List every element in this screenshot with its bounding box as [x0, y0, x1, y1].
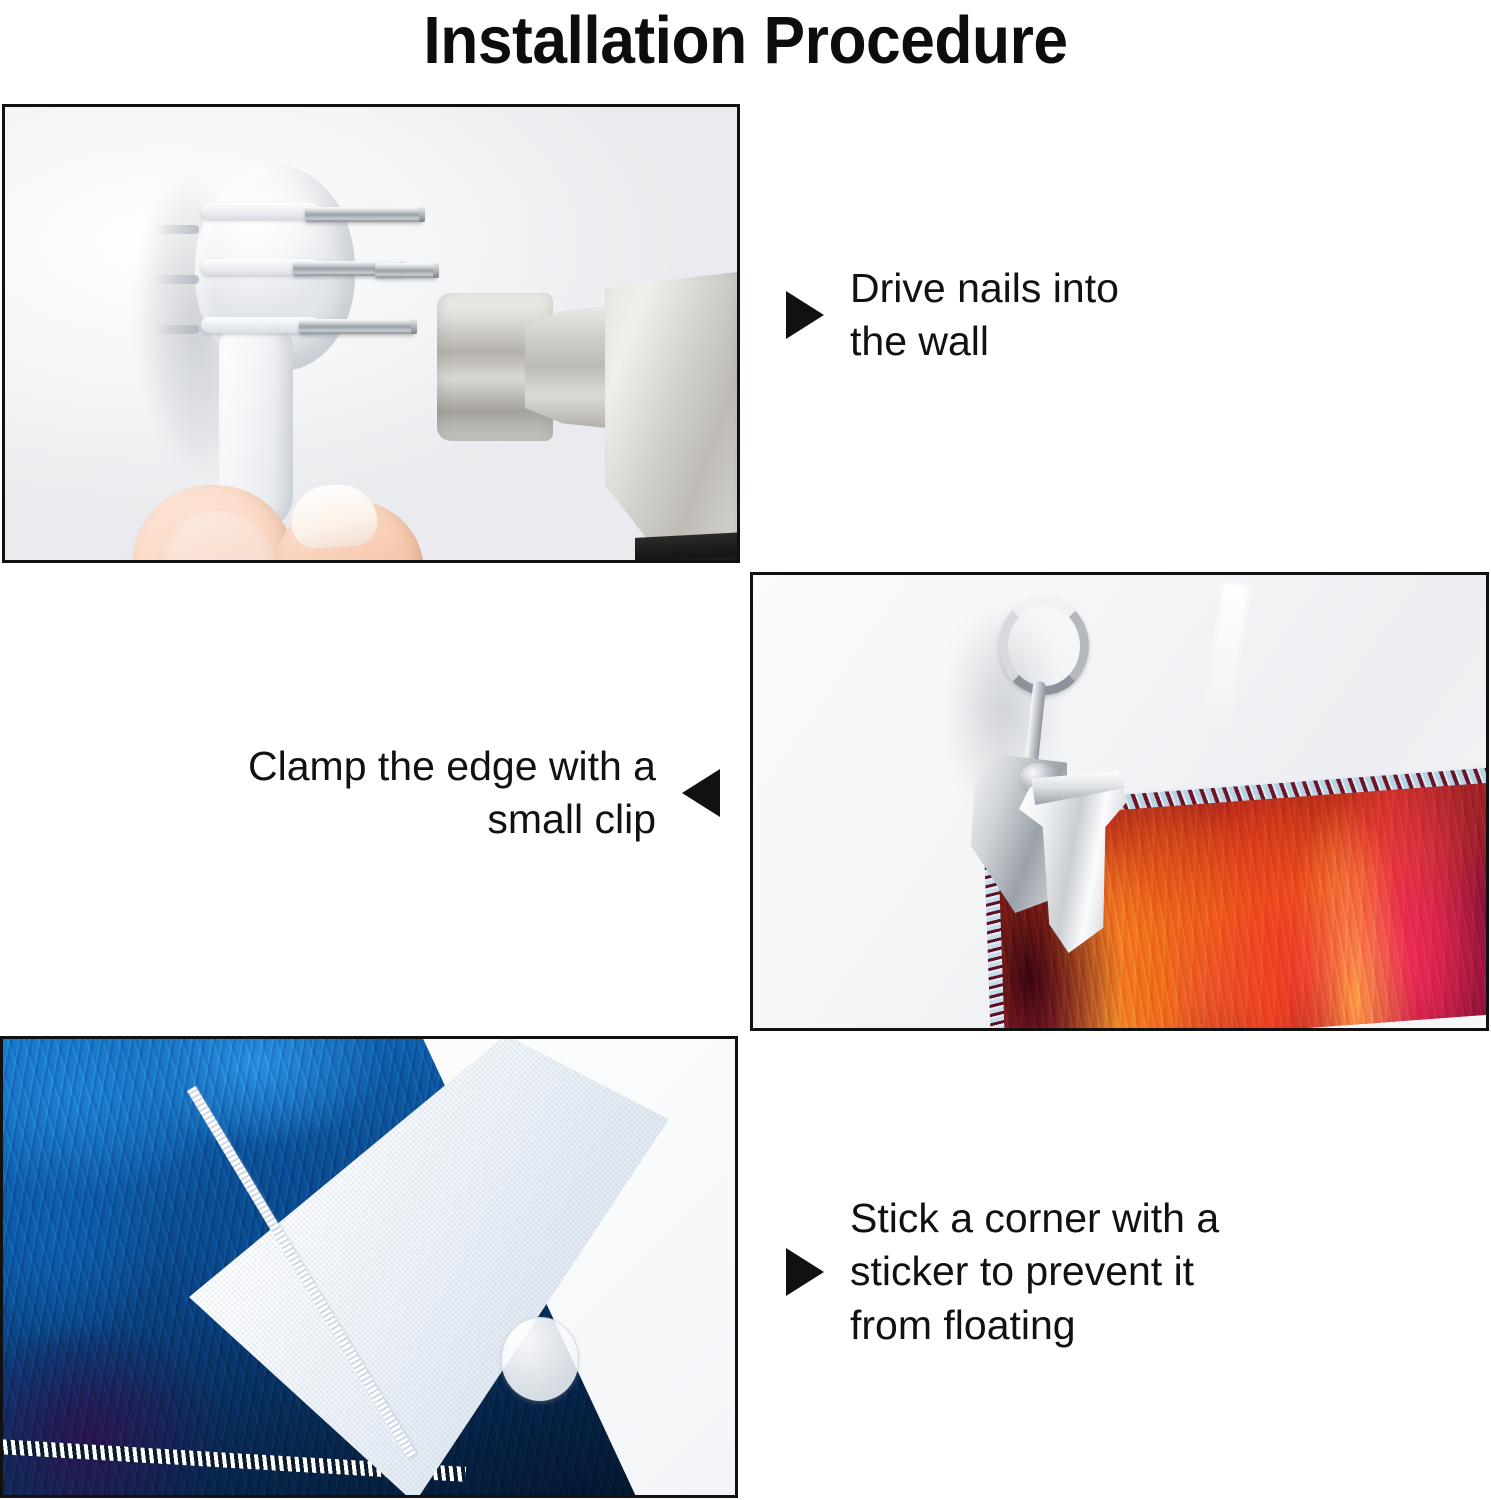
metal-nail: [299, 319, 415, 334]
photo-sticker-corner-inner: [3, 1039, 735, 1495]
hook-rib: [155, 325, 199, 334]
caption-drive-nails: Drive nails into the wall: [786, 262, 1426, 369]
caption-stick-corner: Stick a corner with a sticker to prevent…: [786, 1192, 1446, 1352]
photo-sticker-corner: [0, 1036, 738, 1498]
photo-hammer-nail-hook: [2, 104, 740, 563]
hook-nail-ridge: [201, 203, 319, 219]
metal-nail: [305, 207, 423, 222]
hook-rib: [155, 275, 199, 284]
photo-clip-holding-tapestry: [750, 572, 1489, 1031]
installation-procedure-page: Installation Procedure: [0, 0, 1491, 1500]
metal-ring: [999, 597, 1089, 695]
metal-nail: [375, 263, 437, 278]
triangle-left-icon: [682, 769, 720, 817]
page-title: Installation Procedure: [52, 2, 1439, 79]
triangle-right-icon: [786, 291, 824, 339]
caption-text: Clamp the edge with a small clip: [248, 740, 656, 847]
photo-hammer-nail-hook-inner: [5, 107, 737, 560]
round-clear-sticker: [501, 1317, 579, 1401]
caption-text: Stick a corner with a sticker to prevent…: [850, 1192, 1219, 1352]
black-handle-band: [635, 532, 737, 560]
caption-text: Drive nails into the wall: [850, 262, 1119, 369]
caption-clamp-edge: Clamp the edge with a small clip: [60, 740, 720, 847]
photo-clip-holding-tapestry-inner: [753, 575, 1486, 1028]
triangle-right-icon: [786, 1248, 824, 1296]
hook-rib: [155, 225, 199, 234]
